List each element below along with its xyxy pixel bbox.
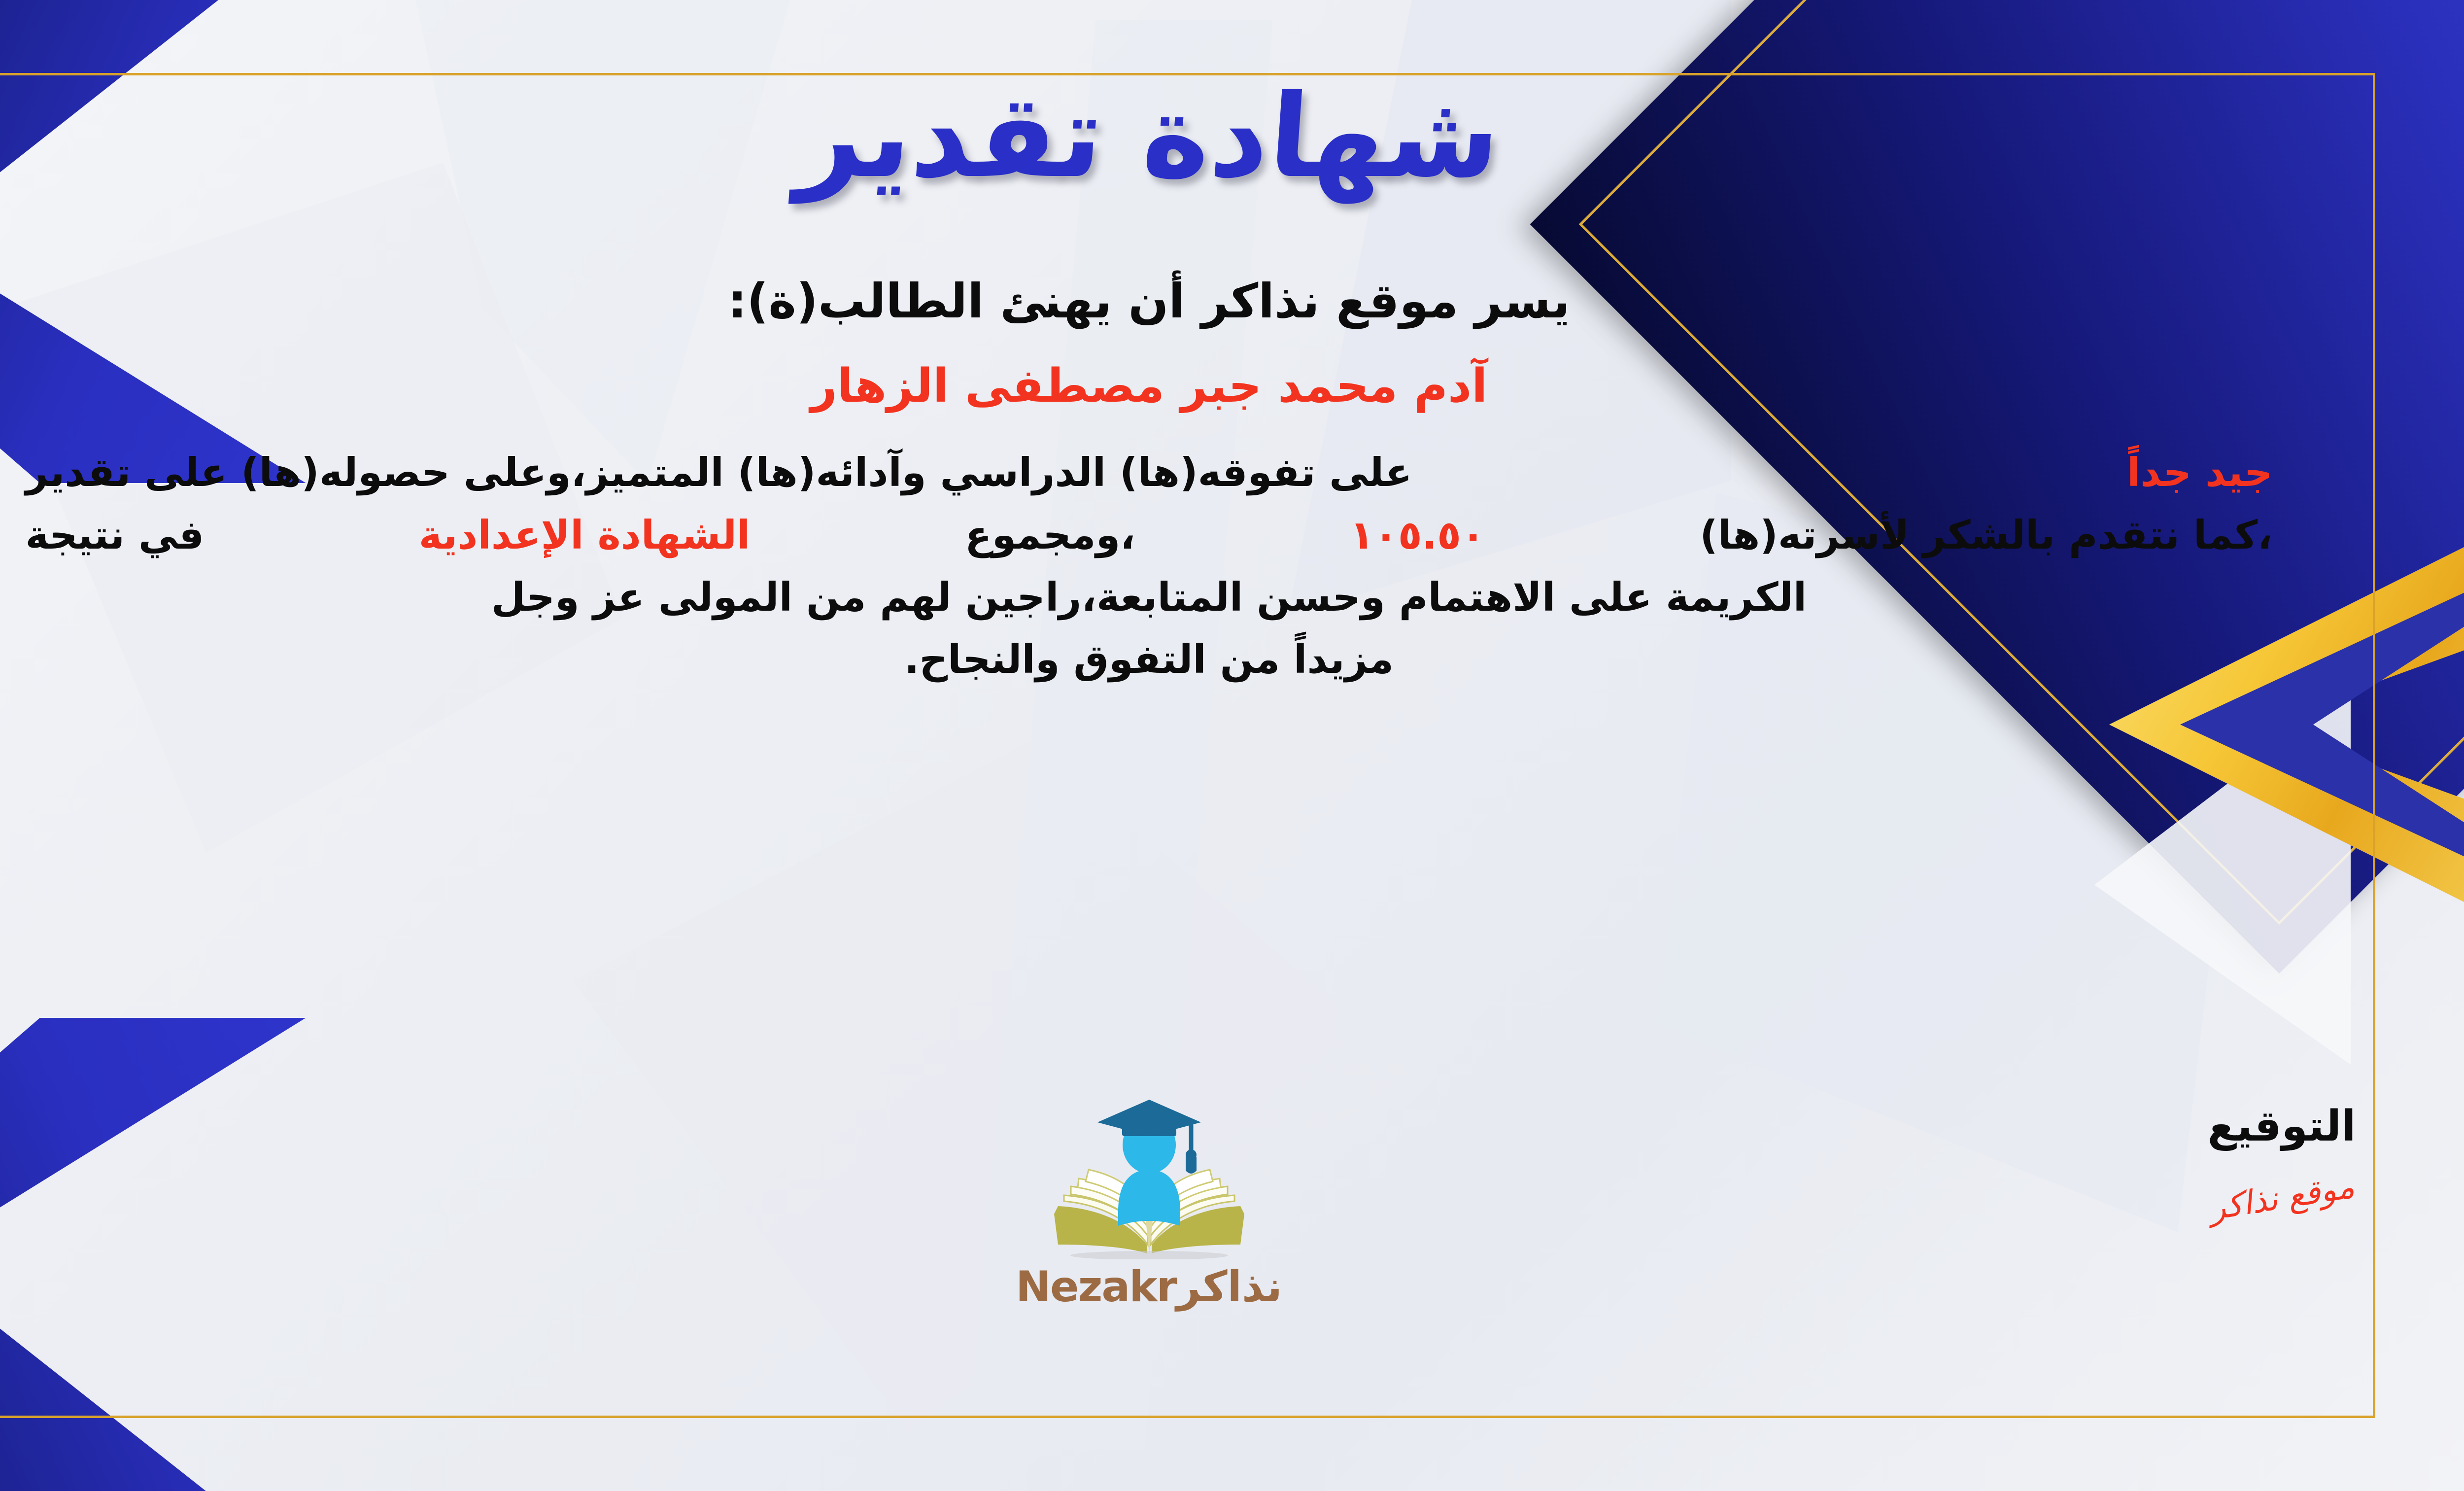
body-line-2-left-text: ،كما نتقدم بالشكر لأسرته(ها) (1700, 504, 2272, 566)
graduate-book-icon (1043, 1097, 1255, 1259)
body-line-2-right-text: في نتيجة (26, 504, 205, 566)
logo-wordmark: نذاكرNezakr (947, 1262, 1351, 1312)
exam-name: الشهادة الإعدادية (419, 504, 751, 566)
intro-line: يسر موقع نذاكر أن يهنئ الطالب(ة): (728, 274, 1570, 329)
logo-arabic: نذاكر (1176, 1262, 1282, 1312)
body-line-3: الكريمة على الاهتمام وحسن المتابعة،راجين… (11, 566, 2288, 628)
certificate-footer: التوقيع موقع نذاكر (0, 1102, 2464, 1407)
body-line-1: جيد جداً على تفوقه(ها) الدراسي وآدائه(ها… (26, 442, 2273, 504)
logo-latin: Nezakr (1016, 1262, 1176, 1312)
signature-script: موقع نذاكر (2207, 1167, 2357, 1227)
signature-label: التوقيع (2099, 1102, 2464, 1151)
grade-value: جيد جداً (2127, 442, 2273, 504)
certificate-body: جيد جداً على تفوقه(ها) الدراسي وآدائه(ها… (11, 442, 2288, 691)
body-line-1-text: على تفوقه(ها) الدراسي وآدائه(ها) المتميز… (26, 442, 1412, 504)
signature-block: التوقيع موقع نذاكر (2099, 1102, 2464, 1216)
page-title: شهادة تقدير (793, 74, 1505, 200)
body-line-2: ،كما نتقدم بالشكر لأسرته(ها) ١٠٥.٥٠ ،ومج… (26, 504, 2273, 566)
brand-logo: نذاكرNezakr (947, 1097, 1351, 1312)
body-line-2-mid-text: ،ومجموع (965, 504, 1135, 566)
student-name: آدم محمد جبر مصطفى الزهار (811, 359, 1488, 413)
total-value: ١٠٥.٥٠ (1350, 504, 1485, 566)
body-line-4: مزيداً من التفوق والنجاح. (11, 628, 2288, 691)
